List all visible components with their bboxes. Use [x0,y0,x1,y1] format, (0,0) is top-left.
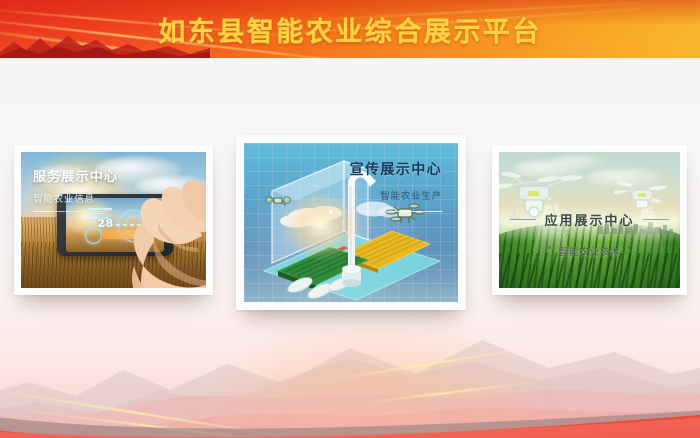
card-image-frame: 宣传展示中心 智能农业生产 [244,143,458,302]
divider-line [33,211,129,212]
mountain-layer-near [0,346,700,438]
card-application-display-center[interactable]: 应用展示中心 智能农业技术 [492,145,687,295]
card-title: 宣传展示中心 [350,159,442,179]
card-title: 应用展示中心 [544,210,634,229]
divider-line [510,219,536,220]
card-subtitle: 智能农业技术 [559,244,621,258]
card-caption-service: 服务展示中心 智能农业信息 [33,166,118,205]
card-image-frame: 28 [21,152,206,288]
header-banner: 如东县智能农业综合展示平台 [0,0,700,58]
card-title: 服务展示中心 [33,166,118,185]
divider-dot [548,246,551,249]
title-with-dividers: 应用展示中心 [499,210,680,229]
divider-line [643,219,669,220]
card-caption-application: 应用展示中心 智能农业技术 [499,210,680,258]
platform-landing-page: 如东县智能农业综合展示平台 [0,0,700,438]
card-image-frame: 应用展示中心 智能农业技术 [499,152,680,288]
divider-dot [628,246,631,249]
temperature-readout: 28 [97,217,113,230]
card-subtitle: 智能农业信息 [33,191,118,205]
page-title: 如东县智能农业综合展示平台 [0,0,700,58]
card-publicity-display-center[interactable]: 宣传展示中心 智能农业生产 [236,135,466,310]
card-caption-publicity: 宣传展示中心 智能农业生产 [350,159,442,202]
card-subtitle: 智能农业生产 [350,188,442,202]
divider-line [334,211,442,212]
hand-holding-phone [124,174,206,288]
card-service-display-center[interactable]: 28 [14,145,213,295]
